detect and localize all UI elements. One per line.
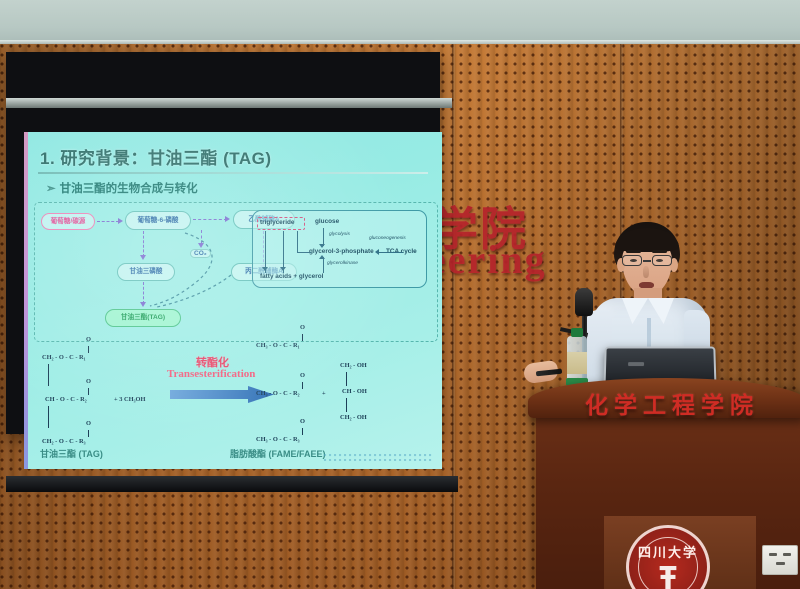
inset-connector [297,231,298,253]
inset-label-gluconeogenesis: gluconeogenesis [369,236,406,241]
arrowhead-icon [262,267,268,271]
podium-sign-text: 化学工程学院 [556,386,788,420]
double-bond [302,428,303,435]
reactant-row-1: CH₂ - O - C - R₁ [42,354,86,361]
eyebrow-right [652,250,667,253]
carbonyl-oxygen: O [86,378,91,385]
arrowhead-icon [140,255,146,260]
pathway-arrow [97,221,119,222]
arrowhead-icon [118,218,123,224]
carbonyl-oxygen: O [86,336,91,343]
inset-connector [377,252,403,253]
double-bond [88,388,89,395]
chain-bond [346,372,347,386]
inset-connector [323,257,324,273]
carbonyl-oxygen: O [300,418,305,425]
product-row-1: CH₃ - O - C - R₁ [256,342,300,349]
inset-label-glucose: glucose [315,218,339,225]
product-row-2: CH₃ - O - C - R₂ [256,390,300,397]
metabolism-inset-box: triglyceride glucose glycolysis glycerol… [252,210,427,288]
arrow-label-english: Transesterification [167,368,255,380]
pathway-node-tag: 甘油三酯(TAG) [105,309,181,327]
outlet-slot [776,562,785,565]
outlet-slot [783,553,791,556]
screen-bottom-bar [6,476,458,492]
reactant-row-3: CH₂ - O - C - R₃ [42,438,86,445]
double-bond [88,430,89,437]
arrowhead-icon [280,267,286,271]
carbonyl-oxygen: O [300,324,305,331]
outlet-slot [769,553,777,556]
glasses-lens-left [622,255,642,266]
methanol-coreactant: + 3 CH₃OH [114,396,145,403]
power-outlet[interactable] [762,545,798,575]
bottle-label [567,352,587,374]
glycerol-row-2: CH - OH [342,388,367,395]
inset-label-products: fatty acids + glycerol [260,273,323,280]
bullet-arrow-icon: ➣ [46,183,56,195]
product-row-3: CH₃ - O - C - R₃ [256,436,300,443]
arrowhead-icon [375,249,379,255]
carbonyl-oxygen: O [300,372,305,379]
bottle-cap[interactable] [571,328,583,337]
caption-fame: 脂肪酸酯 (FAME/FAEE) [230,447,326,460]
glycerol-row-1: CH₂ - OH [340,362,367,369]
inset-label-glycerolkinase: glycerolkinase [327,261,358,266]
arrowhead-icon [140,302,146,307]
arrowhead-icon [319,244,325,248]
pathway-arrow [143,231,144,257]
chain-bond [48,364,49,386]
title-underline [38,172,428,174]
inset-label-glycerol-3-phosphate: glycerol-3-phosphate [309,248,374,255]
arrowhead-icon [225,216,230,222]
wall-sign-english: eering [428,236,547,283]
projector-chromatic-fringe [24,132,28,469]
projected-slide: 1. 研究背景：甘油三酯 (TAG) ➣甘油三酯的生物合成与转化 葡萄糖/碳源 … [24,132,442,469]
reactant-row-2: CH - O - C - R₂ [45,396,87,403]
glasses-lens-right [652,255,672,266]
pathway-node-substrate: 葡萄糖/碳源 [41,213,95,230]
microphone-icon[interactable] [575,288,593,316]
pathway-arrow [201,230,202,244]
arrowhead-icon [319,255,325,259]
slide-title: 1. 研究背景：甘油三酯 (TAG) [40,144,272,169]
inset-label-glycolysis: glycolysis [329,232,350,237]
lecture-hall-photo: 学院 eering 1. 研究背景：甘油三酯 (TAG) ➣甘油三酯的生物合成与… [0,0,800,589]
slide-watermark [324,454,434,461]
pathway-node-g6p: 葡萄糖-6-磷酸 [125,211,191,230]
emblem-text: 四川大学 [629,542,707,561]
double-bond [88,346,89,353]
carbonyl-oxygen: O [86,420,91,427]
pathway-arrow [143,282,144,304]
double-bond [302,382,303,389]
glycerol-row-3: CH₂ - OH [340,414,367,421]
inset-label-triglyceride: triglyceride [260,219,294,226]
pathway-node-g3p: 甘油三磷酸 [117,263,175,281]
slide-subtitle: ➣甘油三酯的生物合成与转化 [46,180,198,196]
pathway-arrow [193,219,227,220]
eyebrow-left [626,250,641,253]
laptop-logo [628,362,644,366]
caption-tag: 甘油三酯 (TAG) [40,447,103,460]
chain-bond [346,398,347,412]
projection-screen-frame: 1. 研究背景：甘油三酯 (TAG) ➣甘油三酯的生物合成与转化 葡萄糖/碳源 … [6,52,440,434]
product-plus: + [322,390,326,397]
slide-subtitle-text: 甘油三酯的生物合成与转化 [60,183,198,195]
chain-bond [48,406,49,428]
nose [643,266,649,278]
glasses-bridge [643,260,651,262]
screen-top-roller [6,98,452,108]
double-bond [302,334,303,341]
arrowhead-icon [198,243,204,248]
co2-label: CO₂ [190,249,211,258]
inset-connector [297,252,311,253]
